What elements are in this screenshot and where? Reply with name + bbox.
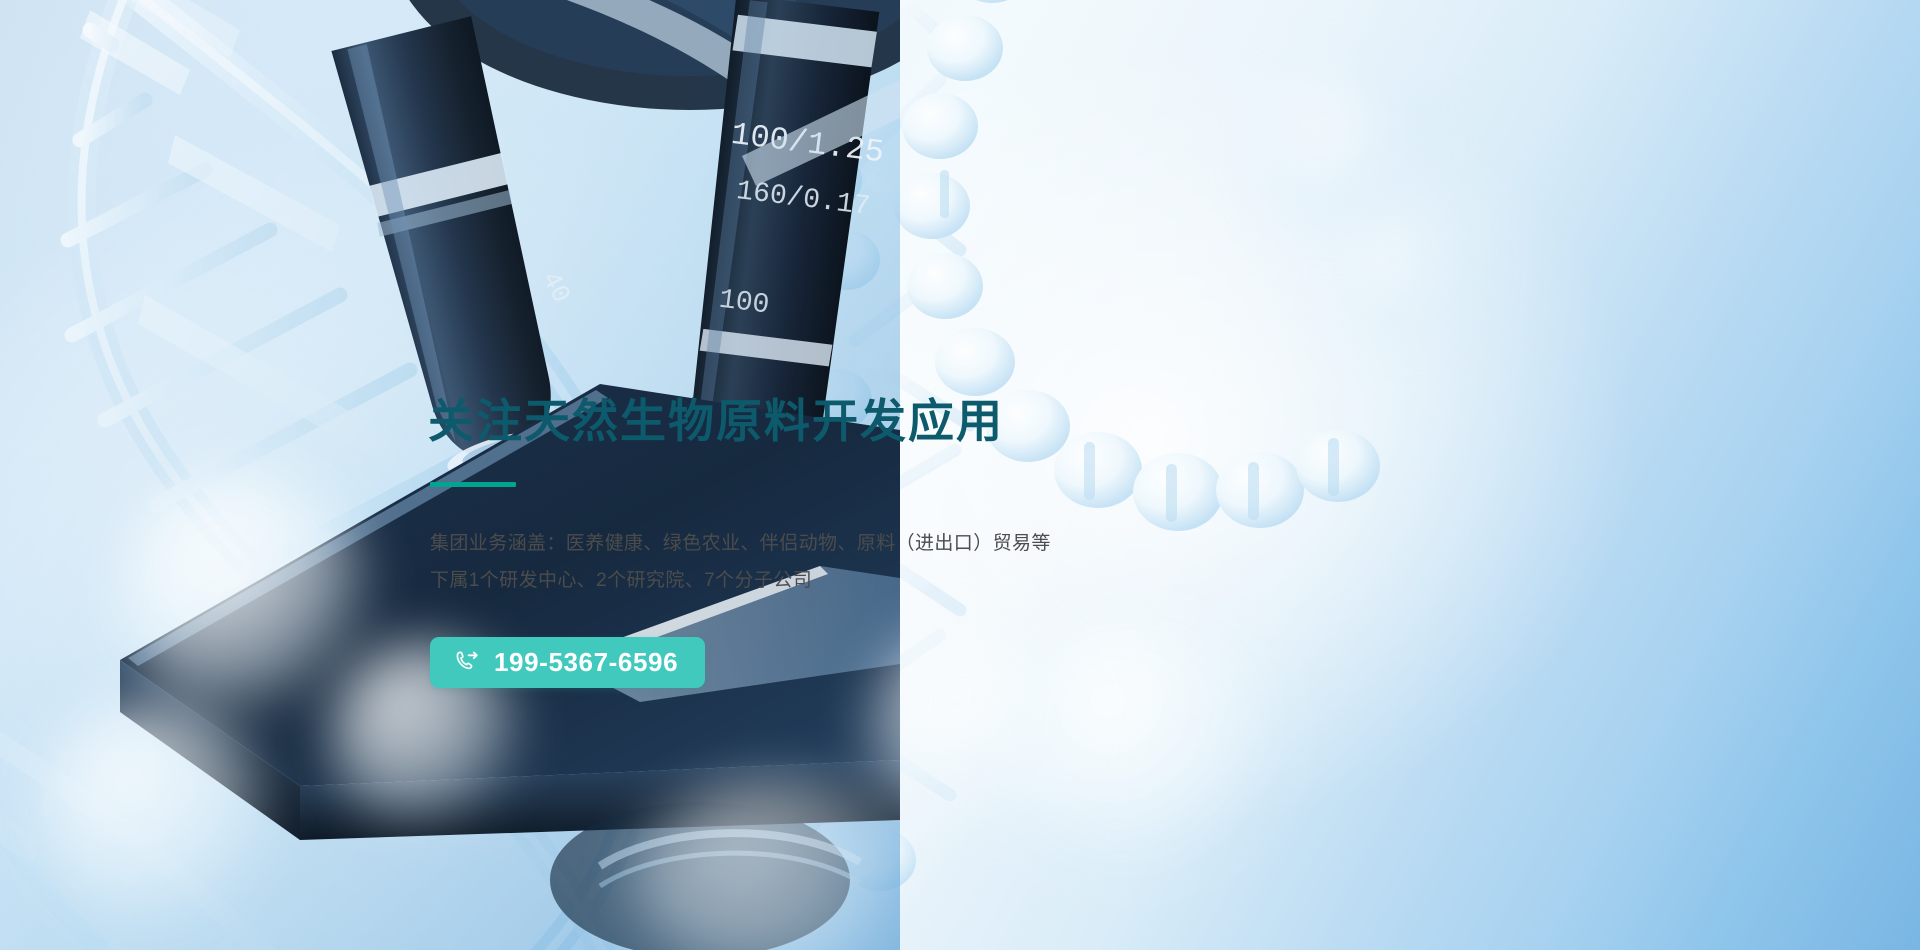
hero-banner: 40 100/1.25 160/0.17 100 xyxy=(0,0,1920,950)
hero-content: 关注天然生物原料开发应用 集团业务涵盖：医养健康、绿色农业、伴侣动物、原料（进出… xyxy=(428,396,1248,688)
hero-subcopy: 集团业务涵盖：医养健康、绿色农业、伴侣动物、原料（进出口）贸易等 下属1个研发中… xyxy=(430,525,1248,599)
headline-divider xyxy=(430,482,516,487)
svg-text:40: 40 xyxy=(535,266,576,308)
phone-number-label: 199-5367-6596 xyxy=(494,649,678,675)
phone-forward-icon xyxy=(454,649,481,676)
svg-text:100/1.25: 100/1.25 xyxy=(729,116,886,171)
subcopy-line-2: 下属1个研发中心、2个研究院、7个分子公司 xyxy=(430,562,1248,599)
phone-cta-button[interactable]: 199-5367-6596 xyxy=(430,637,705,688)
svg-text:160/0.17: 160/0.17 xyxy=(734,176,871,223)
svg-text:100: 100 xyxy=(717,285,771,322)
hero-headline: 关注天然生物原料开发应用 xyxy=(428,396,1248,448)
subcopy-line-1: 集团业务涵盖：医养健康、绿色农业、伴侣动物、原料（进出口）贸易等 xyxy=(430,525,1248,562)
